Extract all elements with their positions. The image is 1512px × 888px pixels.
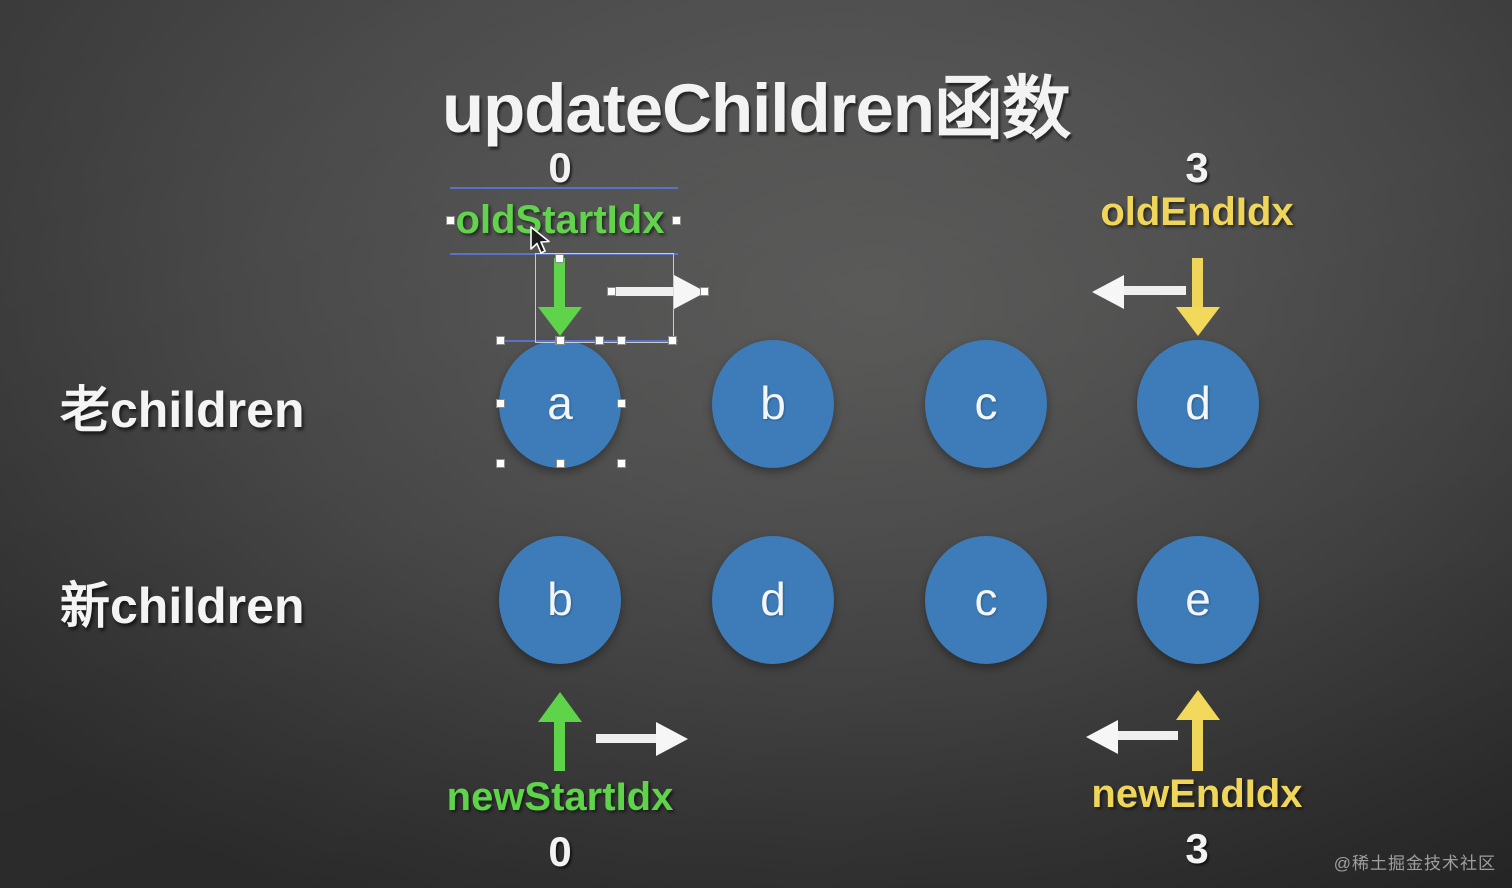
selection-handle-w[interactable] [496,399,505,408]
new-child-node-e[interactable]: e [1137,536,1259,664]
new-start-index-value: 0 [500,828,620,876]
old-end-index-value: 3 [1137,144,1257,192]
slide-canvas: updateChildren函数 老children 新children 0 o… [0,0,1512,888]
selection-handle-arrow-top[interactable] [555,254,564,263]
old-end-down-arrow-icon [1176,258,1220,336]
old-start-index-value: 0 [500,144,620,192]
old-child-label-0: a [547,376,573,430]
alignment-guide-top [450,187,678,189]
selection-handle-sw[interactable] [496,459,505,468]
selection-handle-hline-left[interactable] [607,287,616,296]
old-child-node-d[interactable]: d [1137,340,1259,468]
new-child-node-d[interactable]: d [712,536,834,664]
selection-handle-nw[interactable] [496,336,505,345]
selection-handle-text-left[interactable] [446,216,455,225]
selection-handle-se[interactable] [617,459,626,468]
new-child-label-2: c [975,572,998,626]
new-end-left-arrow-icon [1086,720,1178,754]
new-child-label-3: e [1185,572,1211,626]
new-child-node-b[interactable]: b [499,536,621,664]
old-child-node-b[interactable]: b [712,340,834,468]
new-child-node-c[interactable]: c [925,536,1047,664]
mouse-cursor-icon [530,226,550,256]
selection-handle-rect-se[interactable] [668,336,677,345]
old-child-node-a[interactable]: a [499,340,621,468]
new-end-index-value: 3 [1137,825,1257,873]
old-child-node-c[interactable]: c [925,340,1047,468]
new-start-index-label: newStartIdx [410,775,710,820]
old-child-label-3: d [1185,376,1211,430]
selection-handle-e[interactable] [617,399,626,408]
new-children-label: 新children [60,566,304,638]
selection-bounding-box[interactable] [535,253,674,343]
new-child-label-0: b [547,572,573,626]
selection-handle-text-right[interactable] [672,216,681,225]
old-end-left-arrow-icon [1092,275,1186,309]
new-end-up-arrow-icon [1176,690,1220,771]
page-title: updateChildren函数 [0,52,1512,152]
selection-handle-s[interactable] [556,459,565,468]
new-child-label-1: d [760,572,786,626]
old-child-label-1: b [760,376,786,430]
selection-handle-n[interactable] [556,336,565,345]
selection-handle-hline-right[interactable] [700,287,709,296]
old-child-label-2: c [975,376,998,430]
selection-handle-ne[interactable] [617,336,626,345]
old-start-index-label[interactable]: oldStartIdx [410,198,710,243]
new-start-right-arrow-icon [596,722,688,756]
watermark: @稀土掘金技术社区 [1334,849,1496,874]
selection-handle-rect-s[interactable] [595,336,604,345]
new-start-up-arrow-icon [538,692,582,771]
new-end-index-label: newEndIdx [1047,772,1347,817]
old-end-index-label: oldEndIdx [1047,190,1347,235]
old-children-label: 老children [60,370,304,442]
